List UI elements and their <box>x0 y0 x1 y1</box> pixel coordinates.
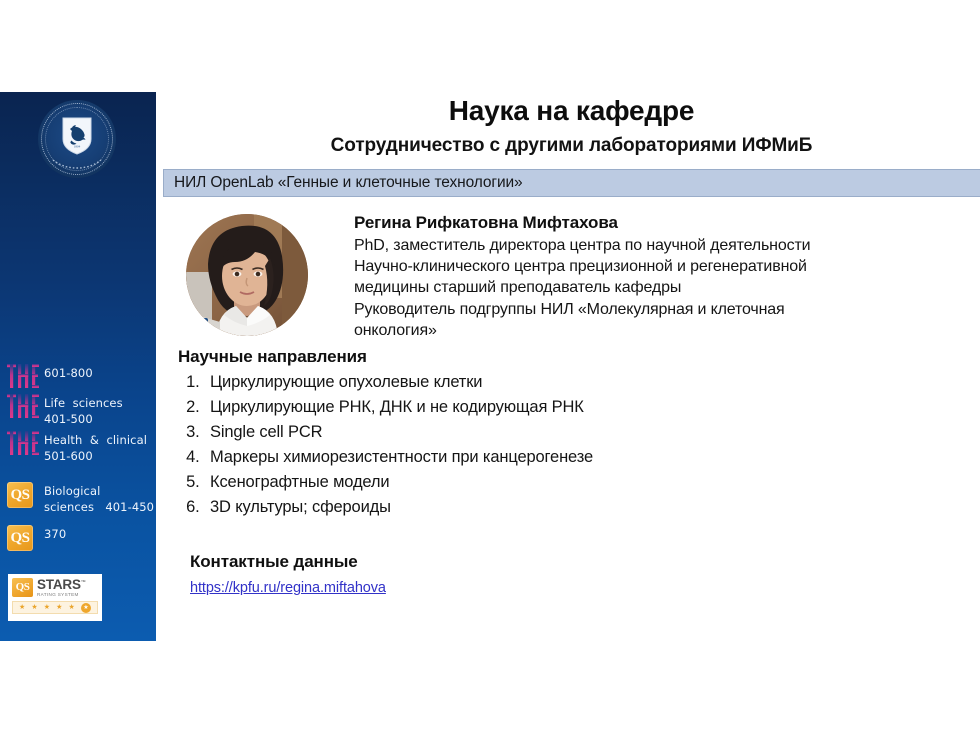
ranking-row: QS Biological sciences 401-450 <box>0 482 156 515</box>
ranking-label: Biological sciences 401-450 <box>44 482 156 515</box>
ranking-line: 401-500 <box>44 411 156 427</box>
kpfu-emblem: 1804 <box>38 100 116 178</box>
lab-banner-label: НИЛ OpenLab «Генные и клеточные технолог… <box>174 174 523 192</box>
person-role-line: онкология» <box>354 320 961 341</box>
ranking-line: Health & clinical <box>44 432 156 448</box>
contact-profile-link[interactable]: https://kpfu.ru/regina.miftahova <box>190 580 386 596</box>
list-item: Single cell PCR <box>204 420 968 445</box>
brand-sidebar: 1804 <box>0 92 156 641</box>
list-item: Маркеры химиорезистентности при канцерог… <box>204 445 968 470</box>
star-icon-highlight: ★ <box>81 603 91 613</box>
page-title: Наука на кафедре <box>163 96 980 127</box>
contacts-heading: Контактные данные <box>190 552 790 572</box>
star-icon: ★ <box>56 604 62 611</box>
list-item: Циркулирующие опухолевые клетки <box>204 370 968 395</box>
lab-banner: НИЛ OpenLab «Генные и клеточные технолог… <box>163 169 980 197</box>
emblem-shield-icon: 1804 <box>62 117 92 155</box>
svg-text:1804: 1804 <box>74 145 81 149</box>
ranking-line: 501-600 <box>44 448 156 464</box>
qs-stars-title: STARS™ <box>37 578 86 592</box>
qs-stars-tm: ™ <box>81 580 86 586</box>
researcher-portrait <box>186 214 308 336</box>
person-name: Регина Рифкатовна Мифтахова <box>354 212 961 234</box>
star-icon: ★ <box>69 604 75 611</box>
ranking-label: Health & clinical 501-600 <box>44 431 156 464</box>
ranking-label: Life sciences 401-500 <box>44 394 156 427</box>
contacts-block: Контактные данные https://kpfu.ru/regina… <box>190 552 790 597</box>
qs-stars-rating-bar: ★ ★ ★ ★ ★ ★ <box>12 601 98 614</box>
star-icon: ★ <box>31 604 37 611</box>
star-icon: ★ <box>19 604 25 611</box>
page-subtitle: Сотрудничество с другими лабораториями И… <box>163 135 980 157</box>
the-rankings-logo <box>0 364 44 388</box>
list-item: Циркулирующие РНК, ДНК и не кодирующая Р… <box>204 395 968 420</box>
slide-canvas: 1804 <box>0 0 980 735</box>
ranking-row: Health & clinical 501-600 <box>0 431 156 464</box>
qs-stars-header: QS STARS™ RATING SYSTEM <box>12 578 98 597</box>
qs-stars-wordmark: STARS™ RATING SYSTEM <box>37 578 86 597</box>
ranking-line: 601-800 <box>44 365 156 381</box>
research-directions-block: Научные направления Циркулирующие опухол… <box>178 346 968 520</box>
the-rankings-logo <box>0 394 44 418</box>
person-role-line: Руководитель подгруппы НИЛ «Молекулярная… <box>354 299 961 320</box>
person-role-line: медицины старший преподаватель кафедры <box>354 277 961 298</box>
ranking-row: Life sciences 401-500 <box>0 394 156 427</box>
list-item: 3D культуры; сфероиды <box>204 495 968 520</box>
ranking-row: 601-800 <box>0 364 156 390</box>
person-block: Регина Рифкатовна Мифтахова PhD, замести… <box>186 212 961 341</box>
the-logo-icon <box>7 364 39 388</box>
person-role-line: Научно-клинического центра прецизионной … <box>354 256 961 277</box>
the-rankings-logo <box>0 431 44 455</box>
emblem-laurel-band <box>50 156 104 168</box>
qs-logo-icon: QS <box>7 482 33 508</box>
qs-rankings-logo: QS <box>0 482 44 508</box>
ranking-line: sciences 401-450 <box>44 499 156 515</box>
person-role-line: PhD, заместитель директора центра по нау… <box>354 235 961 256</box>
ranking-label: 601-800 <box>44 364 156 381</box>
qs-rankings-logo: QS <box>0 525 44 551</box>
ranking-line: Life sciences <box>44 395 156 411</box>
list-item: Ксенографтные модели <box>204 470 968 495</box>
person-role: PhD, заместитель директора центра по нау… <box>354 235 961 341</box>
the-logo-icon <box>7 394 39 418</box>
qs-stars-mark-icon: QS <box>12 578 33 597</box>
ranking-row: QS 370 <box>0 525 156 551</box>
person-text: Регина Рифкатовна Мифтахова PhD, замести… <box>354 212 961 341</box>
the-logo-icon <box>7 431 39 455</box>
qs-logo-icon: QS <box>7 525 33 551</box>
ranking-label: 370 <box>44 525 156 542</box>
research-directions-list: Циркулирующие опухолевые клетки Циркулир… <box>178 370 968 520</box>
qs-stars-subtitle: RATING SYSTEM <box>37 593 86 598</box>
ranking-line: Biological <box>44 483 156 499</box>
qs-stars-title-text: STARS <box>37 577 81 592</box>
star-icon: ★ <box>44 604 50 611</box>
research-directions-heading: Научные направления <box>178 346 968 368</box>
ranking-line: 370 <box>44 526 156 542</box>
qs-stars-badge: QS STARS™ RATING SYSTEM ★ ★ ★ ★ ★ ★ <box>8 574 102 621</box>
rankings-list: 601-800 <box>0 364 156 555</box>
